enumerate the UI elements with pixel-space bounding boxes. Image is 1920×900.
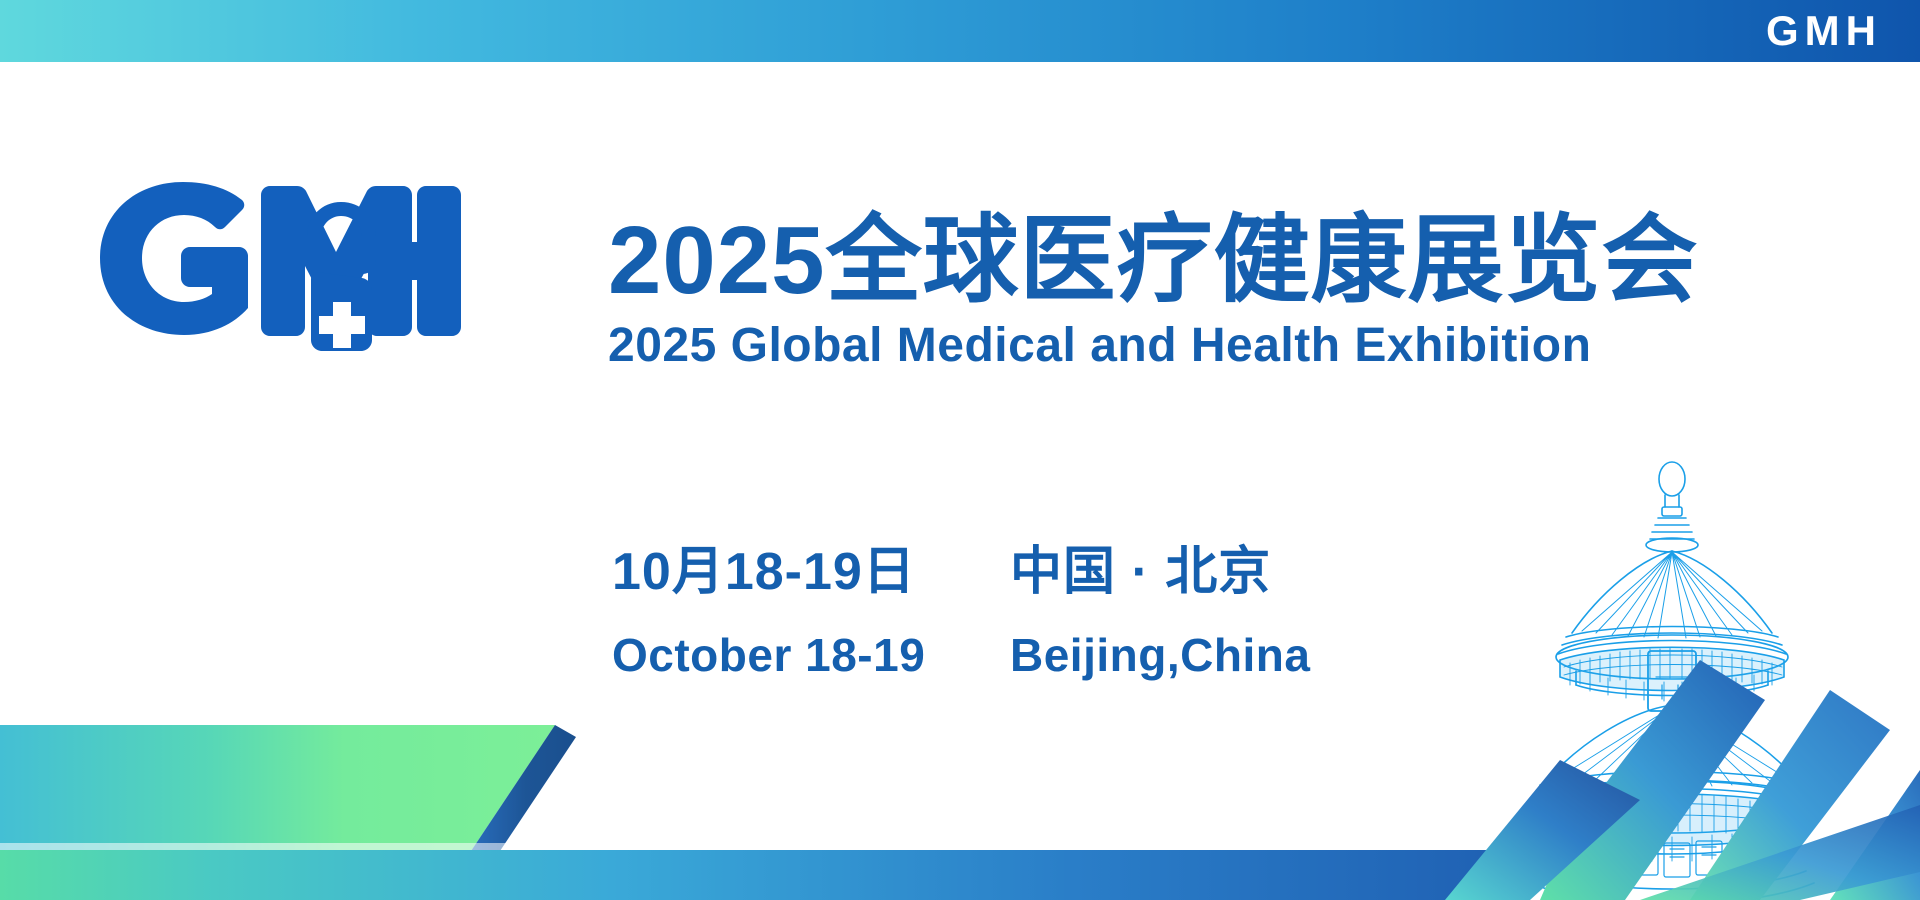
place-english: Beijing,China bbox=[1010, 627, 1430, 685]
title-english: 2025 Global Medical and Health Exhibitio… bbox=[608, 320, 1699, 373]
event-date-column: 10月18-19日 October 18-19 bbox=[612, 540, 922, 685]
title-block: 2025全球医疗健康展览会 2025 Global Medical and He… bbox=[608, 212, 1699, 373]
header-brand-label: GMH bbox=[1766, 10, 1882, 52]
place-chinese: 中国 · 北京 bbox=[1010, 540, 1430, 605]
decor-bottom-band bbox=[0, 843, 1536, 900]
title-chinese: 2025全球医疗健康展览会 bbox=[608, 212, 1699, 310]
decor-green-slab bbox=[0, 725, 576, 880]
poster-canvas: GMH bbox=[0, 0, 1920, 900]
temple-of-heaven-illustration bbox=[1520, 455, 1920, 900]
top-header-bar: GMH bbox=[0, 0, 1920, 62]
event-info: 10月18-19日 October 18-19 中国 · 北京 Beijing,… bbox=[612, 540, 1430, 685]
date-english: October 18-19 bbox=[612, 627, 922, 685]
gmh-logo-mark bbox=[100, 182, 480, 352]
event-place-column: 中国 · 北京 Beijing,China bbox=[922, 540, 1430, 685]
date-chinese: 10月18-19日 bbox=[612, 540, 922, 605]
